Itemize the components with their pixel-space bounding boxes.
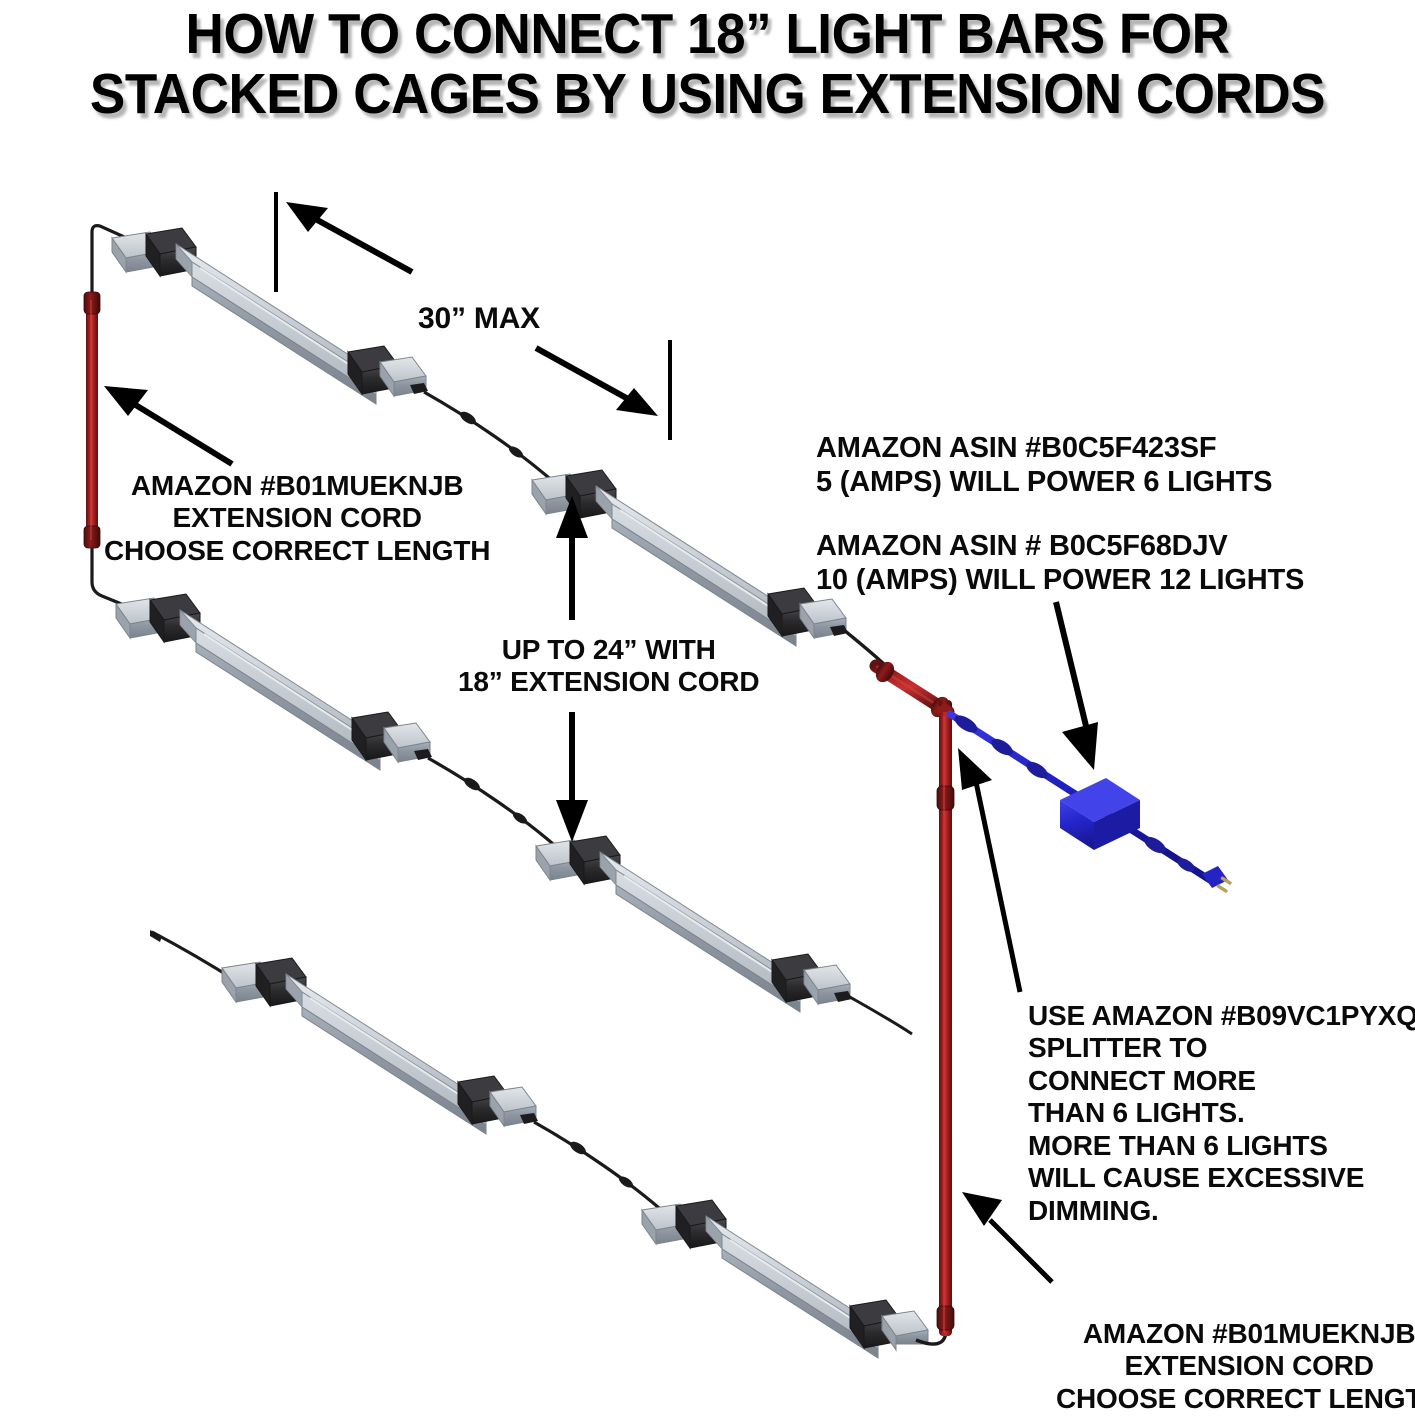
light-bar-2a <box>116 594 432 770</box>
max-spacing-line-1: 30” MAX <box>418 302 540 337</box>
splitter-line-5: MORE THAN 6 LIGHTS <box>1028 1130 1415 1162</box>
light-bar-2b <box>536 836 852 1012</box>
annotation-power-supply-5amp: AMAZON ASIN #B0C5F423SF 5 (AMPS) WILL PO… <box>816 432 1272 499</box>
extension-cord-right-vertical <box>937 712 954 1336</box>
splitter-line-4: THAN 6 LIGHTS. <box>1028 1097 1415 1129</box>
splitter-line-7: DIMMING. <box>1028 1195 1415 1227</box>
leader-splitter <box>958 748 1020 992</box>
annotation-spacing-with-extension: UP TO 24” WITH 18” EXTENSION CORD <box>458 634 759 699</box>
annotation-max-spacing: 30” MAX <box>418 302 540 337</box>
annotation-extension-cord-left: AMAZON #B01MUEKNJB EXTENSION CORD CHOOSE… <box>104 470 490 567</box>
annotation-splitter: USE AMAZON #B09VC1PYXQ SPLITTER TO CONNE… <box>1028 1000 1415 1227</box>
ext-right-line-2: EXTENSION CORD <box>1056 1350 1415 1382</box>
spacing-ext-line-1: UP TO 24” WITH <box>458 634 759 666</box>
row-1-group <box>92 226 888 668</box>
leader-power-supply <box>1056 602 1098 770</box>
annotation-power-supply-10amp: AMAZON ASIN # B0C5F68DJV 10 (AMPS) WILL … <box>816 530 1304 597</box>
spacing-ext-line-2: 18” EXTENSION CORD <box>458 666 759 698</box>
ext-right-line-1: AMAZON #B01MUEKNJB <box>1056 1318 1415 1350</box>
ext-left-line-2: EXTENSION CORD <box>104 502 490 534</box>
diagram-canvas: HOW TO CONNECT 18” LIGHT BARS FOR STACKE… <box>0 0 1415 1418</box>
power-plug <box>1202 866 1232 893</box>
light-bar-3a <box>222 958 538 1134</box>
ext-left-line-3: CHOOSE CORRECT LENGTH <box>104 535 490 567</box>
light-bar-1b <box>532 470 848 646</box>
splitter-line-1: USE AMAZON #B09VC1PYXQ <box>1028 1000 1415 1032</box>
splitter-line-6: WILL CAUSE EXCESSIVE <box>1028 1162 1415 1194</box>
asin-10amp-line-2: 10 (AMPS) WILL POWER 12 LIGHTS <box>816 564 1304 598</box>
asin-5amp-line-1: AMAZON ASIN #B0C5F423SF <box>816 432 1272 466</box>
asin-10amp-line-1: AMAZON ASIN # B0C5F68DJV <box>816 530 1304 564</box>
ext-right-line-3: CHOOSE CORRECT LENGTH <box>1056 1383 1415 1415</box>
ext-left-line-1: AMAZON #B01MUEKNJB <box>104 470 490 502</box>
light-bar-3b <box>642 1200 928 1358</box>
asin-5amp-line-2: 5 (AMPS) WILL POWER 6 LIGHTS <box>816 466 1272 500</box>
splitter-line-2: SPLITTER TO <box>1028 1032 1415 1064</box>
splitter-line-3: CONNECT MORE <box>1028 1065 1415 1097</box>
annotation-extension-cord-right: AMAZON #B01MUEKNJB EXTENSION CORD CHOOSE… <box>1056 1318 1415 1415</box>
leader-extension-cord-left <box>104 386 232 464</box>
